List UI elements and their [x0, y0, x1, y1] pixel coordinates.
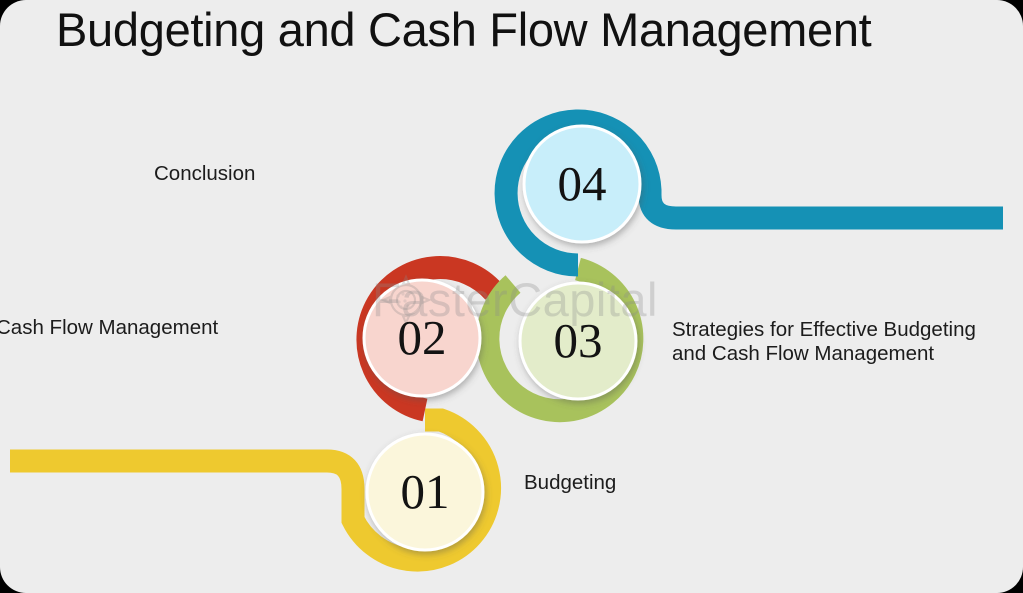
step-label-budgeting: Budgeting [524, 471, 616, 495]
step-label-conclusion: Conclusion [154, 162, 255, 186]
step-number-04: 04 [512, 159, 652, 208]
step-label-cash-flow-management: Cash Flow Management [0, 316, 218, 340]
step-number-03: 03 [508, 316, 648, 365]
infographic-root: FasterCapital Budgeting and Cash Flow Ma… [0, 0, 1023, 593]
infographic-canvas: FasterCapital Budgeting and Cash Flow Ma… [0, 0, 1023, 593]
step-number-01: 01 [355, 467, 495, 516]
process-diagram [0, 0, 1023, 593]
step-number-02: 02 [352, 313, 492, 362]
page-title: Budgeting and Cash Flow Management [56, 2, 871, 57]
step-label-strategies: Strategies for Effective Budgeting and C… [672, 318, 976, 366]
